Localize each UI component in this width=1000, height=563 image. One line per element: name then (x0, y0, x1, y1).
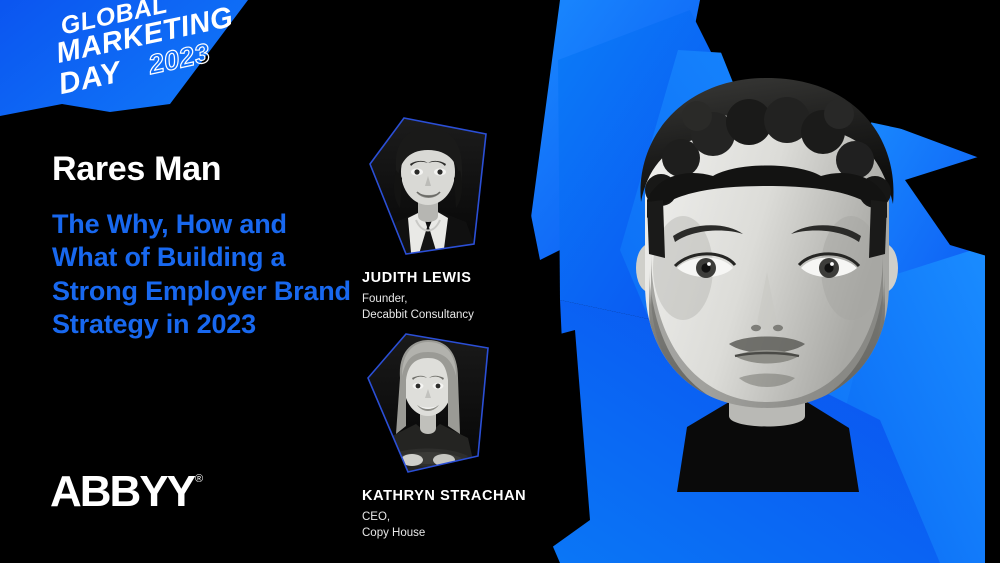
abbyy-wordmark: ABBYY (50, 470, 194, 514)
session-title: The Why, How and What of Building a Stro… (52, 208, 352, 342)
speaker-card[interactable]: KATHRYN STRACHAN CEO, Copy House (362, 330, 552, 541)
speaker-name: KATHRYN STRACHAN (362, 488, 552, 505)
hero-portrait-rares-man (617, 72, 917, 492)
judith-lewis-portrait (362, 112, 492, 264)
speaker-hex-frame (362, 330, 492, 482)
title-card-slide: GLOBAL MARKETING DAY 2023 Rares Man The … (0, 0, 1000, 563)
presenter-name: Rares Man (52, 150, 221, 189)
speaker-meta: KATHRYN STRACHAN CEO, Copy House (362, 488, 552, 541)
kathryn-strachan-portrait (362, 330, 492, 482)
registered-trademark-icon: ® (195, 473, 203, 485)
hero-nostril-left (751, 325, 761, 331)
bg-polygon-black-edge-right (985, 150, 1000, 563)
speaker-name: JUDITH LEWIS (362, 270, 552, 287)
speaker-hex-frame (362, 112, 492, 264)
logo-year-2023: 2023 (146, 38, 213, 81)
logo-line-day: DAY (56, 58, 123, 100)
speaker-meta: JUDITH LEWIS Founder, Decabbit Consultan… (362, 270, 552, 323)
speaker-role: Founder, Decabbit Consultancy (362, 292, 552, 322)
event-logo: GLOBAL MARKETING DAY 2023 (0, 0, 300, 135)
logo-line-global: GLOBAL (59, 0, 170, 39)
speaker-role: CEO, Copy House (362, 510, 552, 540)
hero-sideburn-left (647, 200, 665, 258)
abbyy-logo: ABBYY ® (50, 470, 203, 514)
event-logo-text: GLOBAL MARKETING DAY 2023 (44, 0, 292, 122)
logo-line-marketing: MARKETING (54, 3, 236, 69)
speaker-card[interactable]: JUDITH LEWIS Founder, Decabbit Consultan… (362, 112, 552, 323)
hero-nostril-right (773, 325, 783, 331)
hero-sideburn-right (869, 200, 887, 258)
